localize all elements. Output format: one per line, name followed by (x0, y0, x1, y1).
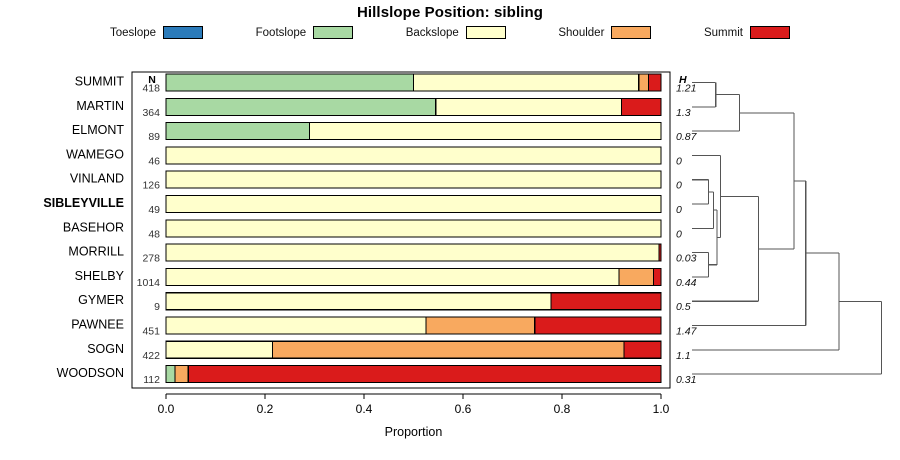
row-h-value: 0 (676, 204, 682, 216)
row-n-value: 49 (148, 204, 160, 216)
bar-segment-summit (535, 317, 661, 334)
x-axis-tick-label: 1.0 (653, 402, 670, 416)
x-axis-tick-label: 0.4 (356, 402, 373, 416)
bar-segment-summit (659, 244, 661, 261)
bar-segment-footslope (166, 366, 175, 383)
bar-segment-backslope (166, 147, 661, 164)
bar-segment-shoulder (619, 268, 654, 285)
bar-segment-summit (188, 366, 661, 383)
bar-segment-backslope (166, 196, 661, 213)
bar-segment-backslope (310, 123, 661, 140)
bar-segment-summit (649, 74, 661, 91)
bar-segment-backslope (166, 244, 659, 261)
row-h-value: 0.5 (676, 301, 691, 313)
category-label: VINLAND (70, 172, 124, 186)
bar-segment-summit (551, 293, 661, 310)
category-label: GYMER (78, 293, 124, 307)
row-h-value: 1.47 (676, 326, 698, 338)
row-n-value: 278 (142, 253, 160, 265)
row-h-value: 0 (676, 228, 682, 240)
bar-segment-backslope (166, 293, 551, 310)
chart-root: Hillslope Position: sibling ToeslopeFoot… (0, 0, 900, 460)
row-n-value: 1014 (137, 277, 161, 289)
bar-segment-backslope (166, 220, 661, 237)
category-label: ELMONT (72, 123, 124, 137)
bar-segment-footslope (166, 98, 436, 115)
row-h-value: 1.21 (676, 83, 696, 95)
category-label: SOGN (87, 342, 124, 356)
row-h-value: 0.31 (676, 374, 696, 386)
bar-segment-footslope (166, 74, 414, 91)
row-n-value: 364 (142, 107, 160, 119)
row-n-value: 89 (148, 131, 160, 143)
row-h-value: 0 (676, 155, 682, 167)
row-n-value: 126 (142, 180, 160, 192)
category-label: WOODSON (57, 366, 124, 380)
bar-segment-backslope (166, 341, 272, 358)
category-label: SIBLEYVILLE (43, 196, 124, 210)
bar-segment-footslope (166, 123, 310, 140)
stacked-bar-chart: NHSUMMIT4181.21MARTIN3641.3ELMONT890.87W… (0, 0, 900, 460)
row-h-value: 0.03 (676, 253, 697, 265)
bar-segment-backslope (414, 74, 639, 91)
x-axis-tick-label: 0.2 (257, 402, 274, 416)
row-n-value: 422 (142, 350, 160, 362)
category-label: WAMEGO (66, 147, 124, 161)
bar-segment-shoulder (175, 366, 188, 383)
bar-segment-shoulder (426, 317, 535, 334)
row-h-value: 0 (676, 180, 682, 192)
category-label: BASEHOR (63, 220, 124, 234)
bar-segment-summit (654, 268, 661, 285)
row-n-value: 9 (154, 301, 160, 313)
row-n-value: 112 (143, 374, 160, 386)
x-axis-title: Proportion (385, 425, 443, 439)
row-n-value: 451 (142, 326, 160, 338)
category-label: MARTIN (76, 99, 124, 113)
category-label: PAWNEE (71, 318, 124, 332)
row-n-value: 46 (148, 155, 160, 167)
bar-segment-summit (621, 98, 661, 115)
row-h-value: 0.87 (676, 131, 698, 143)
bar-segment-shoulder (272, 341, 623, 358)
x-axis-tick-label: 0.6 (455, 402, 472, 416)
x-axis-tick-label: 0.8 (554, 402, 571, 416)
bar-segment-backslope (166, 317, 426, 334)
row-h-value: 1.3 (676, 107, 691, 119)
category-label: SUMMIT (75, 75, 125, 89)
bar-segment-backslope (436, 98, 622, 115)
row-h-value: 1.1 (676, 350, 691, 362)
bar-segment-backslope (166, 171, 661, 188)
bar-segment-shoulder (639, 74, 649, 91)
category-label: SHELBY (75, 269, 125, 283)
row-n-value: 418 (142, 83, 160, 95)
bar-segment-backslope (166, 268, 619, 285)
x-axis-tick-label: 0.0 (158, 402, 175, 416)
row-h-value: 0.44 (676, 277, 697, 289)
row-n-value: 48 (148, 228, 160, 240)
category-label: MORRILL (68, 245, 124, 259)
bar-segment-summit (624, 341, 661, 358)
